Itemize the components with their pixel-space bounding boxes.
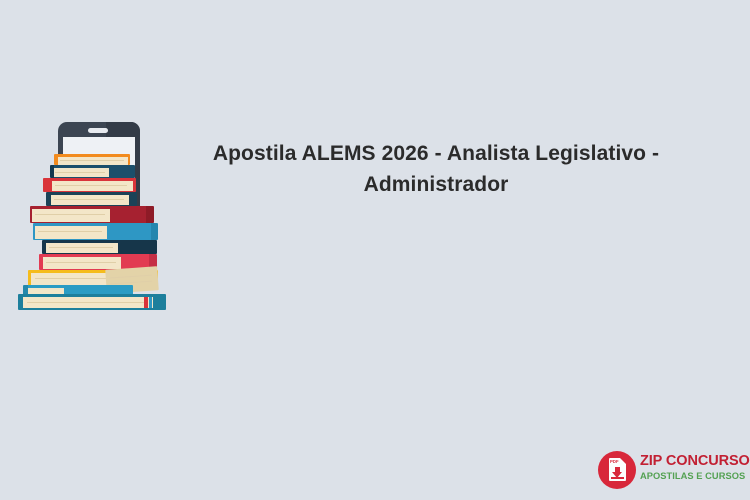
pdf-label: PDF: [610, 459, 619, 464]
book-pages: [51, 181, 133, 191]
download-tray: [611, 477, 624, 479]
book-page-line: [55, 172, 105, 173]
product-title-line-1: Apostila ALEMS 2026 - Analista Legislati…: [186, 138, 686, 169]
brand-logo-text: ZIP CONCURSOS APOSTILAS E CURSOS: [640, 452, 734, 482]
book-spine: [151, 223, 158, 240]
book-pages: [32, 209, 110, 222]
book-item: [43, 178, 136, 192]
book-page-line: [49, 247, 113, 248]
pdf-corner-fold: [620, 458, 626, 464]
book-bookmark-blue: [149, 297, 152, 308]
brand-name: ZIP CONCURSOS: [640, 452, 734, 470]
book-item: [54, 154, 130, 165]
smartphone-speaker: [88, 128, 108, 133]
book-pages: [35, 226, 107, 239]
book-page-line: [27, 302, 145, 303]
book-spine: [43, 178, 52, 192]
book-item: [46, 192, 137, 206]
product-title-line-2: Administrador: [186, 169, 686, 200]
book-page-line: [60, 160, 124, 161]
book-pages: [43, 257, 121, 269]
book-bookmark-red: [144, 297, 148, 308]
book-page-line: [55, 185, 127, 186]
book-spine: [50, 165, 54, 178]
brand-logo[interactable]: PDF ZIP CONCURSOS APOSTILAS E CURSOS: [598, 448, 734, 492]
book-spine: [146, 206, 154, 223]
book-pages: [46, 243, 118, 253]
pdf-sheet: PDF: [609, 458, 626, 481]
book-item: [18, 294, 166, 310]
brand-tagline: APOSTILAS E CURSOS: [640, 470, 734, 482]
stack-of-books-with-smartphone-illustration: [10, 122, 170, 310]
pdf-document-download-icon: PDF: [598, 451, 636, 489]
book-item: [33, 223, 158, 240]
book-page-line: [46, 262, 116, 263]
book-pages: [58, 157, 128, 165]
book-page-line: [54, 199, 124, 200]
book-pages: [51, 195, 129, 205]
book-page-line: [35, 214, 105, 215]
product-title: Apostila ALEMS 2026 - Analista Legislati…: [186, 138, 686, 200]
page-canvas: Apostila ALEMS 2026 - Analista Legislati…: [0, 0, 750, 500]
book-item: [30, 206, 154, 223]
book-item: [42, 240, 157, 254]
book-item: [50, 165, 135, 178]
book-page-line: [38, 231, 102, 232]
